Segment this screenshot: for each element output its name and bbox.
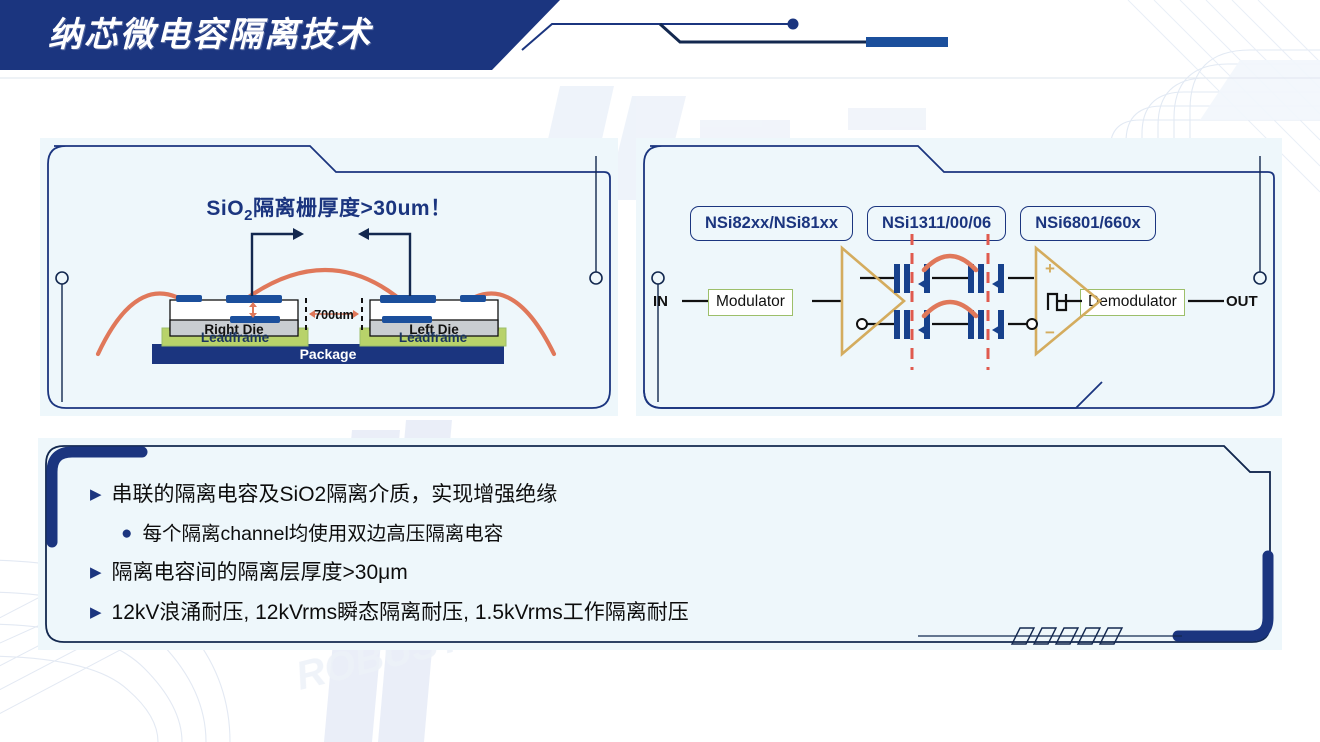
bullet-text: 每个隔离channel均使用双边高压隔离电容 <box>142 516 503 552</box>
page-title: 纳芯微电容隔离技术 <box>48 13 372 57</box>
isolation-circuit-diagram: + − <box>636 138 1282 416</box>
bullet-item-3: ▶ 隔离电容间的隔离层厚度>30μm <box>90 554 1242 592</box>
leadframe-right-label: Leadframe <box>201 330 270 345</box>
panel-bullets: ▶ 串联的隔离电容及SiO2隔离介质，实现增强绝缘 ● 每个隔离channel均… <box>38 438 1282 650</box>
comparator-plus-label: + <box>1045 259 1055 278</box>
panel-cross-section: Right Die Left Die Leadframe Leadframe P… <box>40 138 618 416</box>
bullet-item-1: ▶ 串联的隔离电容及SiO2隔离介质，实现增强绝缘 <box>90 476 1242 514</box>
bullet-marker-triangle: ▶ <box>90 594 102 632</box>
bullet-text: 隔离电容间的隔离层厚度>30μm <box>112 554 408 592</box>
slide-root: RELIABLE ROBUST 纳芯微电容隔离技术 <box>0 0 1320 742</box>
bullet-text: 12kV浪涌耐压, 12kVrms瞬态隔离耐压, 1.5kVrms工作隔离耐压 <box>112 594 689 632</box>
leader-arrows <box>252 234 410 296</box>
bullet-marker-triangle: ▶ <box>90 554 102 592</box>
bullet-item-2: ● 每个隔离channel均使用双边高压隔离电容 <box>121 516 1242 552</box>
gap-label: 700um <box>314 308 354 322</box>
bullet-text: 串联的隔离电容及SiO2隔离介质，实现增强绝缘 <box>112 476 558 514</box>
comparator-minus-label: − <box>1045 323 1055 342</box>
bullet-marker-triangle: ▶ <box>90 476 102 514</box>
driver-inverting-node <box>857 319 867 329</box>
package-label: Package <box>300 346 357 362</box>
bullet-item-4: ▶ 12kV浪涌耐压, 12kVrms瞬态隔离耐压, 1.5kVrms工作隔离耐… <box>90 594 1242 632</box>
leadframe-left-label: Leadframe <box>399 330 468 345</box>
cross-section-diagram: Right Die Left Die Leadframe Leadframe P… <box>40 138 618 416</box>
header-trace-bar <box>866 37 948 47</box>
header-trace-node <box>788 19 799 30</box>
panel-block-diagram: + − <box>636 138 1282 416</box>
comparator-inverting-node <box>1027 319 1037 329</box>
bullet-marker-dot: ● <box>121 516 132 552</box>
bullet-list: ▶ 串联的隔离电容及SiO2隔离介质，实现增强绝缘 ● 每个隔离channel均… <box>90 476 1242 634</box>
